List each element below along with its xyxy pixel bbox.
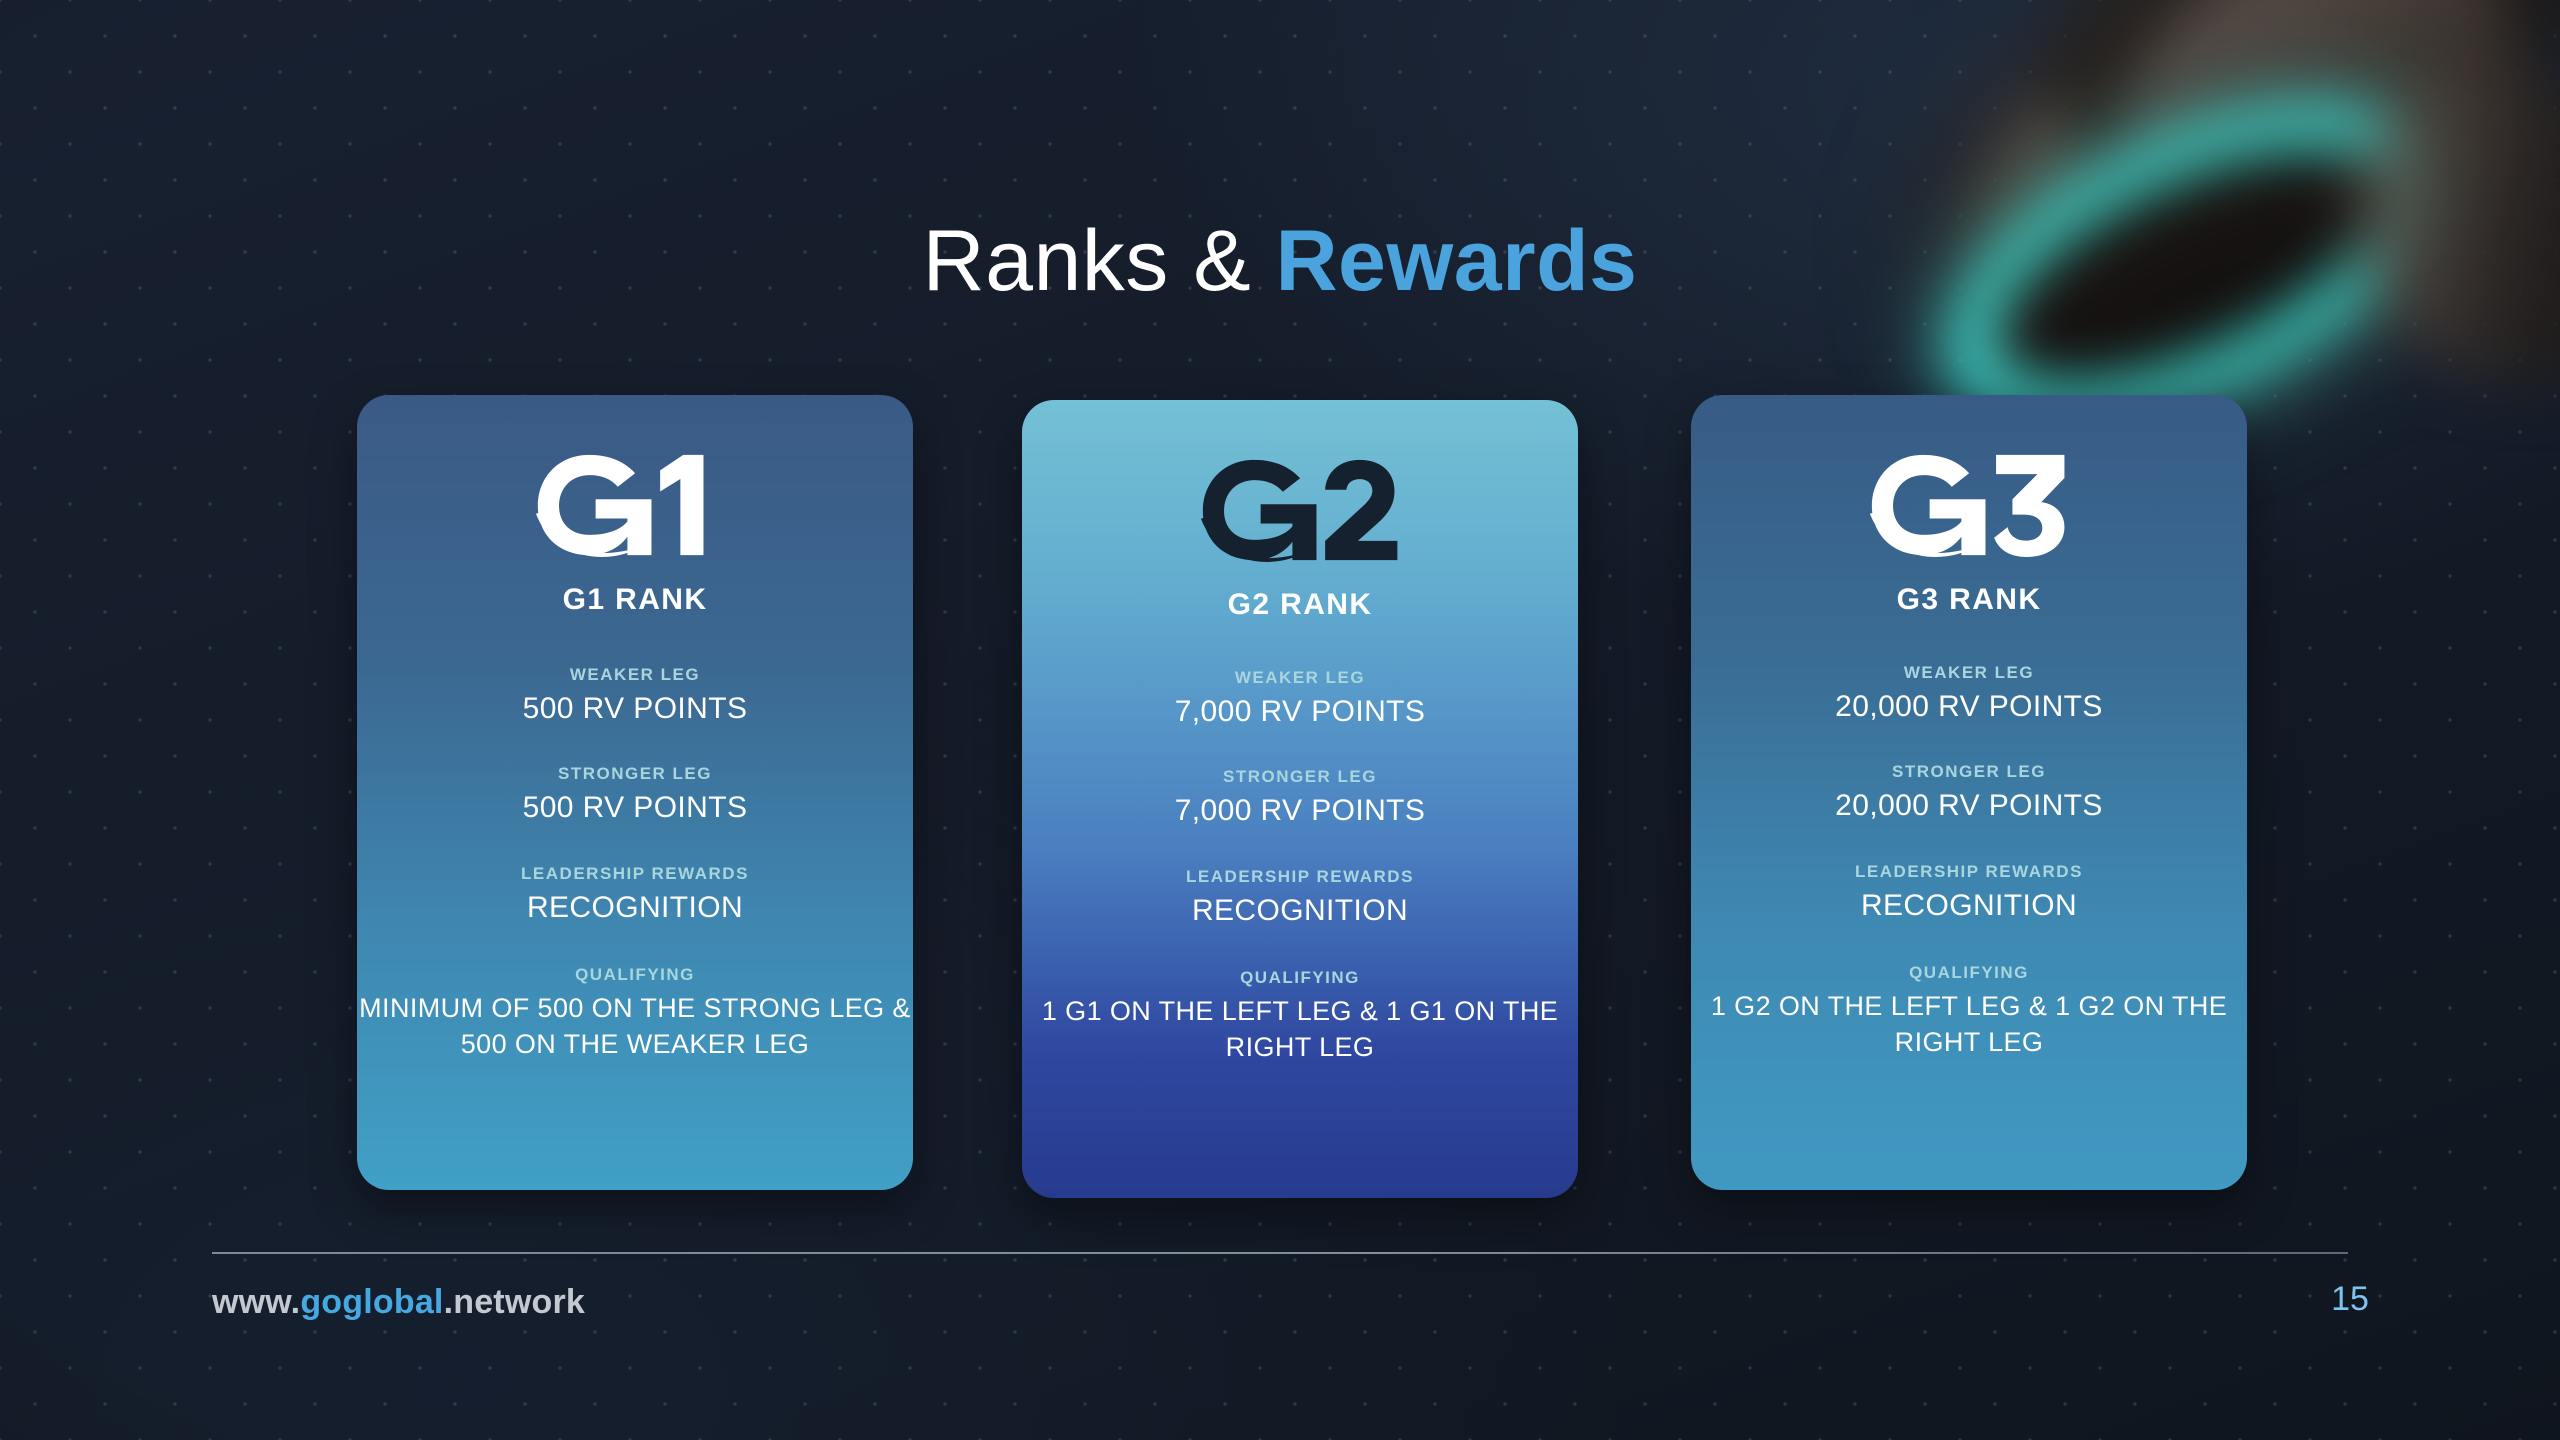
field-weaker-leg: WEAKER LEG 500 RV POINTS (357, 665, 913, 728)
field-stronger-leg: STRONGER LEG 20,000 RV POINTS (1691, 762, 2247, 825)
field-label: STRONGER LEG (1691, 762, 2247, 782)
rank-title: G2 RANK (1228, 588, 1373, 622)
field-label: LEADERSHIP REWARDS (357, 864, 913, 884)
field-leadership-rewards: LEADERSHIP REWARDS RECOGNITION (357, 864, 913, 927)
field-value: RECOGNITION (357, 889, 913, 927)
field-value: 1 G2 ON THE LEFT LEG & 1 G2 ON THE RIGHT… (1691, 988, 2247, 1060)
field-label: WEAKER LEG (1022, 668, 1578, 688)
field-stronger-leg: STRONGER LEG 7,000 RV POINTS (1022, 767, 1578, 830)
field-weaker-leg: WEAKER LEG 7,000 RV POINTS (1022, 668, 1578, 731)
field-value: MINIMUM OF 500 ON THE STRONG LEG & 500 O… (357, 990, 913, 1062)
field-stronger-leg: STRONGER LEG 500 RV POINTS (357, 764, 913, 827)
rank-card-g3[interactable]: G3 RANK WEAKER LEG 20,000 RV POINTS STRO… (1691, 395, 2247, 1190)
slide-ranks-and-rewards: Ranks & Rewards G1 RANK WEAKER LEG 500 R… (0, 0, 2560, 1440)
page-title: Ranks & Rewards (0, 218, 2560, 304)
field-label: QUALIFYING (357, 965, 913, 985)
rank-card-g2[interactable]: G2 RANK WEAKER LEG 7,000 RV POINTS STRON… (1022, 400, 1578, 1198)
footer-divider (212, 1252, 2348, 1254)
rank-card-list: G1 RANK WEAKER LEG 500 RV POINTS STRONGE… (357, 395, 2247, 1195)
field-value: 500 RV POINTS (357, 789, 913, 827)
field-label: STRONGER LEG (1022, 767, 1578, 787)
rank-card-g1[interactable]: G1 RANK WEAKER LEG 500 RV POINTS STRONGE… (357, 395, 913, 1190)
field-label: QUALIFYING (1022, 968, 1578, 988)
field-label: LEADERSHIP REWARDS (1022, 867, 1578, 887)
field-value: 20,000 RV POINTS (1691, 787, 2247, 825)
field-leadership-rewards: LEADERSHIP REWARDS RECOGNITION (1691, 862, 2247, 925)
g3-logo-icon (1868, 453, 2070, 557)
field-label: STRONGER LEG (357, 764, 913, 784)
field-value: 7,000 RV POINTS (1022, 693, 1578, 731)
footer-website-url[interactable]: www.goglobal.network (212, 1283, 585, 1322)
field-value: 500 RV POINTS (357, 690, 913, 728)
field-label: WEAKER LEG (1691, 663, 2247, 683)
field-qualifying: QUALIFYING 1 G2 ON THE LEFT LEG & 1 G2 O… (1691, 963, 2247, 1060)
url-suffix: .network (444, 1283, 585, 1321)
field-label: WEAKER LEG (357, 665, 913, 685)
field-qualifying: QUALIFYING MINIMUM OF 500 ON THE STRONG … (357, 965, 913, 1062)
field-label: QUALIFYING (1691, 963, 2247, 983)
field-weaker-leg: WEAKER LEG 20,000 RV POINTS (1691, 663, 2247, 726)
page-title-light: Ranks & (923, 213, 1276, 309)
g2-logo-icon (1199, 458, 1401, 562)
field-value: 1 G1 ON THE LEFT LEG & 1 G1 ON THE RIGHT… (1022, 993, 1578, 1065)
field-leadership-rewards: LEADERSHIP REWARDS RECOGNITION (1022, 867, 1578, 930)
field-value: 20,000 RV POINTS (1691, 688, 2247, 726)
url-prefix: www. (212, 1283, 300, 1321)
g1-logo-icon (534, 453, 736, 557)
url-brand: goglobal (300, 1283, 443, 1321)
rank-title: G1 RANK (563, 583, 708, 617)
field-label: LEADERSHIP REWARDS (1691, 862, 2247, 882)
field-value: RECOGNITION (1022, 892, 1578, 930)
page-number: 15 (2305, 1280, 2395, 1319)
rank-title: G3 RANK (1897, 583, 2042, 617)
page-title-accent: Rewards (1275, 213, 1637, 309)
field-value: RECOGNITION (1691, 887, 2247, 925)
field-qualifying: QUALIFYING 1 G1 ON THE LEFT LEG & 1 G1 O… (1022, 968, 1578, 1065)
field-value: 7,000 RV POINTS (1022, 792, 1578, 830)
